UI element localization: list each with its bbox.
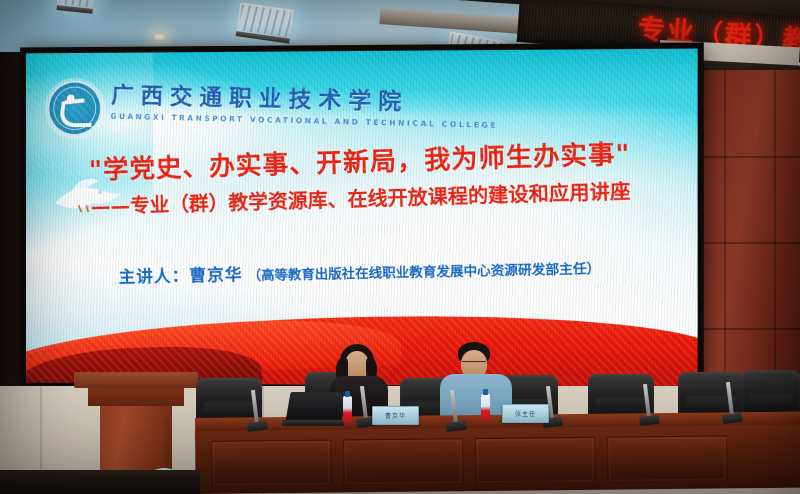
chair-7 — [742, 370, 800, 414]
speaker-name: 曹京华 — [189, 265, 243, 286]
school-name-cn: 广西交通职业技术学院 — [111, 85, 499, 117]
water-bottle-2 — [481, 394, 490, 421]
foreground-shadow — [0, 470, 200, 494]
speaker-label: 主讲人： — [118, 266, 189, 287]
panel-table-front — [195, 425, 800, 494]
laptop-1 — [285, 392, 346, 422]
screen-logo-row: 广西交通职业技术学院 GUANGXI TRANSPORT VOCATIONAL … — [47, 78, 498, 136]
led-screen-surface: 广西交通职业技术学院 GUANGXI TRANSPORT VOCATIONAL … — [26, 49, 698, 388]
nameplate-1: 曹京华 — [372, 406, 419, 425]
ceiling-downlight-1 — [152, 33, 167, 41]
man-glasses-icon — [462, 361, 486, 367]
school-name-block: 广西交通职业技术学院 GUANGXI TRANSPORT VOCATIONAL … — [110, 85, 499, 130]
ceiling-panel-light-2 — [236, 2, 294, 39]
nameplate-2-text: 张主任 — [505, 407, 546, 420]
led-wall-screen: 广西交通职业技术学院 GUANGXI TRANSPORT VOCATIONAL … — [23, 46, 701, 391]
water-bottle-1 — [343, 396, 352, 423]
school-emblem-icon — [47, 81, 102, 137]
conference-hall-photo: 专业（群）教 — [0, 0, 800, 494]
podium-top — [74, 372, 198, 388]
ceiling-panel-light-1 — [57, 0, 95, 10]
chair-6 — [678, 372, 744, 416]
podium-neck — [88, 388, 184, 406]
nameplate-2: 张主任 — [502, 404, 549, 423]
nameplate-1-text: 曹京华 — [375, 409, 416, 422]
